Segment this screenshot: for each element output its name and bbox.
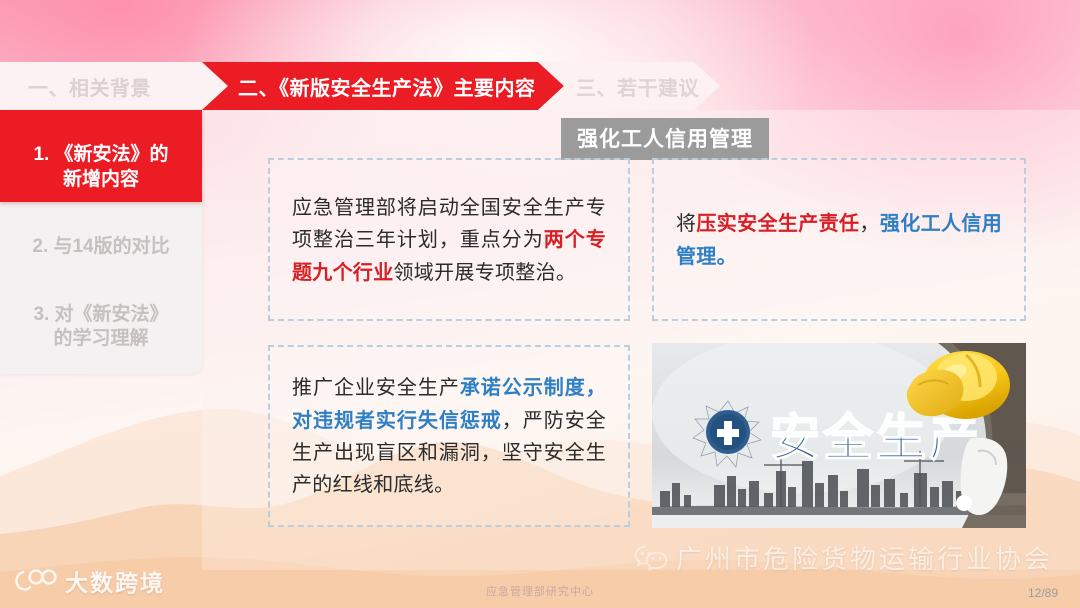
section-tabs: 一、相关背景 二、《新版安全生产法》主要内容 三、若干建议 <box>0 62 720 110</box>
content-box-top-right-text: 将压实安全生产责任，强化工人信用管理。 <box>676 207 1002 272</box>
footer-center-text: 应急管理部研究中心 <box>0 583 1080 599</box>
wechat-icon <box>634 544 668 572</box>
sidebar-item-label-2: 2. 与14版的对比 <box>32 236 169 257</box>
bl-text-1: 推广企业安全生产 <box>292 375 460 399</box>
tab-main-content[interactable]: 二、《新版安全生产法》主要内容 <box>202 62 564 110</box>
svg-text:安全生产: 安全生产 <box>770 409 982 467</box>
tr-highlight-red: 压实安全生产责任 <box>696 211 859 235</box>
sidebar-item-label-3: 3. 对《新安法》 的学习理解 <box>33 304 168 349</box>
safety-production-image: 安全生产 <box>652 343 1026 528</box>
sidebar-nav: 1. 《新安法》的 新增内容 2. 与14版的对比 3. 对《新安法》 的学习理… <box>0 110 202 374</box>
tab-background[interactable]: 一、相关背景 <box>0 62 228 110</box>
tab-label-3: 三、若干建议 <box>576 72 699 101</box>
sidebar-item-study[interactable]: 3. 对《新安法》 的学习理解 <box>0 270 202 362</box>
tr-text-3: ， <box>859 211 879 235</box>
association-watermark-text: 广州市危险货物运输行业协会 <box>676 539 1053 576</box>
content-box-top-left: 应急管理部将启动全国安全生产专项整治三年计划，重点分为两个专题九个行业领域开展专… <box>268 158 630 321</box>
content-box-bottom-left-text: 推广企业安全生产承诺公示制度，对违规者实行失信惩戒，严防安全生产出现盲区和漏洞，… <box>292 371 606 501</box>
section-title-badge: 强化工人信用管理 <box>561 118 769 160</box>
tl-text-3: 领域开展专项整治。 <box>394 260 577 284</box>
sidebar-item-new-content[interactable]: 1. 《新安法》的 新增内容 <box>0 110 202 202</box>
tab-suggestions[interactable]: 三、若干建议 <box>538 62 720 110</box>
tab-label-2: 二、《新版安全生产法》主要内容 <box>238 72 536 101</box>
page-number: 12/89 <box>1028 586 1058 600</box>
safety-production-illustration: 安全生产 <box>652 343 1026 528</box>
tab-label-1: 一、相关背景 <box>28 72 151 101</box>
sidebar-item-comparison[interactable]: 2. 与14版的对比 <box>0 202 202 270</box>
sidebar-item-label-1: 1. 《新安法》的 新增内容 <box>33 144 168 189</box>
slide-canvas: 一、相关背景 二、《新版安全生产法》主要内容 三、若干建议 1. 《新安法》的 … <box>0 0 1080 608</box>
content-box-top-right: 将压实安全生产责任，强化工人信用管理。 <box>652 158 1026 321</box>
tr-text-1: 将 <box>676 211 696 235</box>
content-box-top-left-text: 应急管理部将启动全国安全生产专项整治三年计划，重点分为两个专题九个行业领域开展专… <box>292 191 606 288</box>
tr-text-5: 。 <box>717 244 737 268</box>
association-watermark: 广州市危险货物运输行业协会 <box>634 539 1053 576</box>
content-box-bottom-left: 推广企业安全生产承诺公示制度，对违规者实行失信惩戒，严防安全生产出现盲区和漏洞，… <box>268 345 630 527</box>
